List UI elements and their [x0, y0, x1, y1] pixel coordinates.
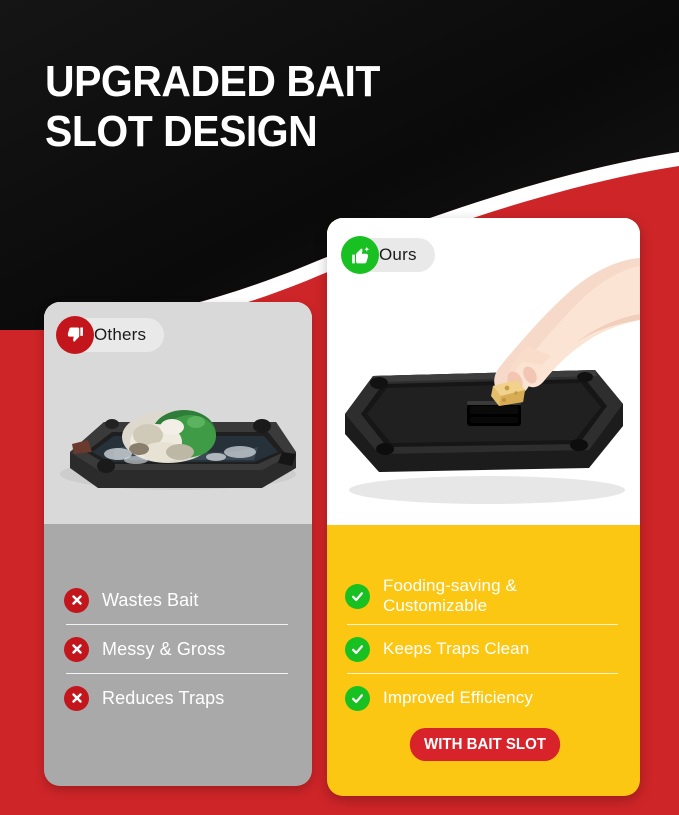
ours-badge-pill: Ours [345, 238, 435, 272]
check-circle-icon [345, 686, 370, 711]
others-badge: Others [60, 318, 164, 352]
page-title: UPGRADED BAIT SLOT DESIGN [45, 57, 566, 157]
thumbs-down-icon [56, 316, 94, 354]
comparison-card-others: Others WITHOUT BAIT SLOT Wastes Bait Mes… [44, 302, 312, 786]
others-badge-pill: Others [60, 318, 164, 352]
list-item-label: Wastes Bait [102, 590, 198, 611]
ours-badge: Ours [345, 238, 435, 272]
others-feature-list: Wastes Bait Messy & Gross Reduces Traps [44, 578, 312, 720]
x-circle-icon [64, 637, 89, 662]
list-item-label: Reduces Traps [102, 688, 224, 709]
list-item: Improved Efficiency [345, 676, 622, 720]
list-divider [347, 624, 618, 625]
check-circle-icon [345, 637, 370, 662]
thumbs-up-icon [341, 236, 379, 274]
with-bait-slot-label: WITH BAIT SLOT [410, 728, 560, 761]
list-item-label: Fooding-saving & Customizable [383, 576, 622, 616]
list-item-label: Improved Efficiency [383, 688, 533, 708]
list-item: Wastes Bait [64, 578, 292, 622]
x-circle-icon [64, 588, 89, 613]
check-circle-icon [345, 584, 370, 609]
list-divider [66, 624, 288, 625]
list-item: Keeps Traps Clean [345, 627, 622, 671]
list-item-label: Messy & Gross [102, 639, 225, 660]
x-circle-icon [64, 686, 89, 711]
others-badge-label: Others [94, 325, 146, 345]
list-item: Messy & Gross [64, 627, 292, 671]
ours-feature-list: Fooding-saving & Customizable Keeps Trap… [327, 570, 640, 720]
ours-badge-label: Ours [379, 245, 417, 265]
list-item: Fooding-saving & Customizable [345, 570, 622, 622]
list-divider [347, 673, 618, 674]
list-divider [66, 673, 288, 674]
comparison-card-ours: Ours WITH BAIT SLOT Fooding-saving & Cus… [327, 218, 640, 796]
list-item-label: Keeps Traps Clean [383, 639, 529, 659]
list-item: Reduces Traps [64, 676, 292, 720]
